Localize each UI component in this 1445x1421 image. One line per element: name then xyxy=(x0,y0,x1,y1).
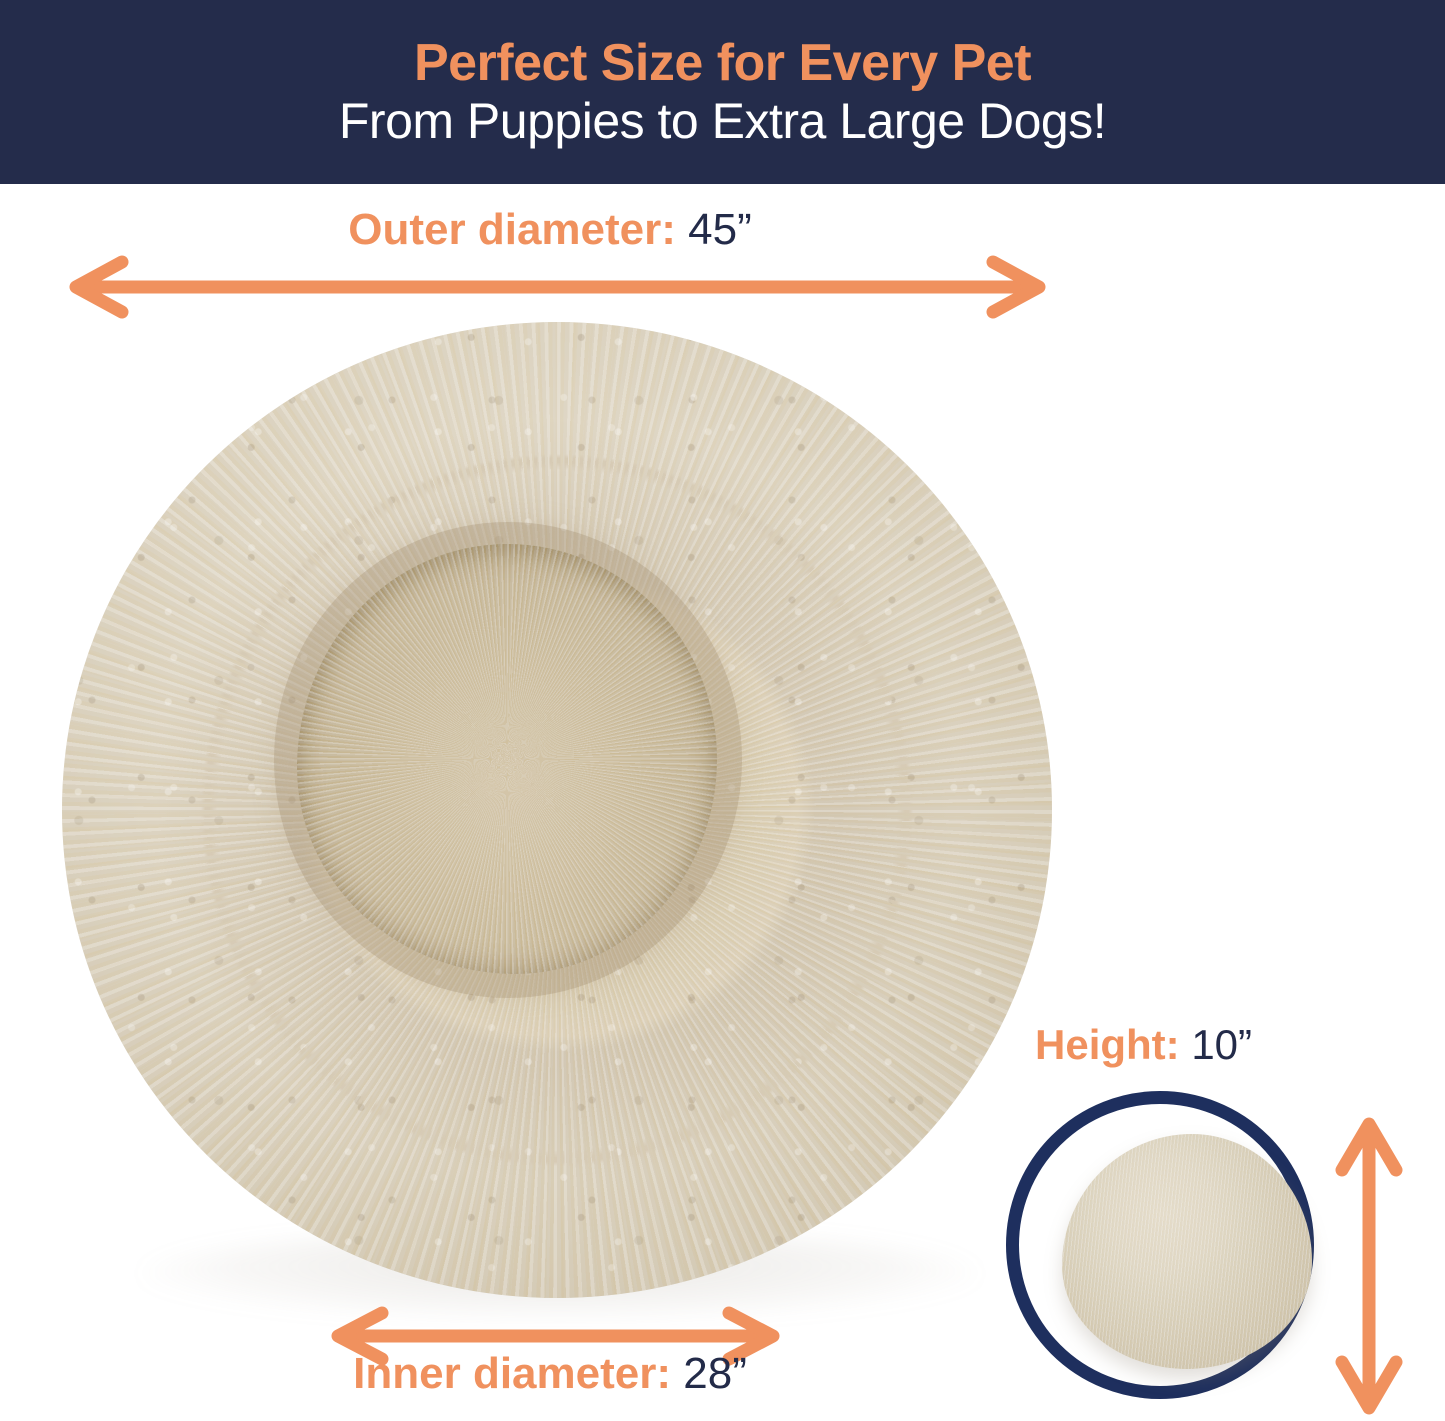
inner-diameter-value: 28” xyxy=(683,1349,747,1398)
inner-diameter-label-text: Inner diameter: xyxy=(353,1349,683,1398)
height-label: Height: 10” xyxy=(1035,1024,1435,1066)
page-title: Perfect Size for Every Pet xyxy=(414,36,1031,91)
infographic-page: Perfect Size for Every Pet From Puppies … xyxy=(0,0,1445,1421)
outer-diameter-label: Outer diameter: 45” xyxy=(0,208,1100,252)
height-arrow-icon xyxy=(1330,1108,1410,1421)
outer-diameter-label-text: Outer diameter: xyxy=(348,205,688,254)
inner-diameter-label: Inner diameter: 28” xyxy=(0,1352,1100,1396)
bed-inner-cushion xyxy=(297,544,717,974)
page-subtitle: From Puppies to Extra Large Dogs! xyxy=(339,95,1106,148)
product-image-topview xyxy=(62,322,1052,1298)
header-banner: Perfect Size for Every Pet From Puppies … xyxy=(0,0,1445,184)
outer-diameter-value: 45” xyxy=(688,205,752,254)
outer-diameter-arrow-icon xyxy=(60,258,1055,316)
height-label-text: Height: xyxy=(1035,1021,1191,1068)
height-value: 10” xyxy=(1191,1021,1252,1068)
